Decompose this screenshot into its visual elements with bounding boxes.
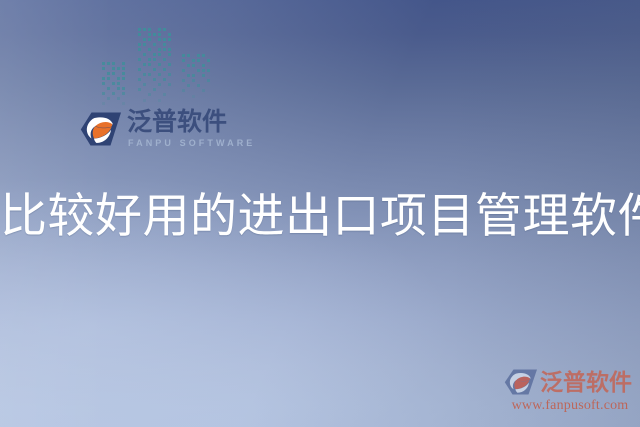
fanpu-logo-name-cn: 泛普软件 — [127, 108, 255, 136]
fanpu-logo-name-en: FANPU SOFTWARE — [128, 137, 255, 150]
watermark-url: www.fanpusoft.com — [504, 397, 636, 414]
pixel-skyline-icon — [98, 24, 216, 108]
fanpu-watermark-mark-icon — [504, 368, 538, 396]
watermark-name-cn: 泛普软件 — [540, 369, 632, 395]
fanpu-logo-mark-icon — [80, 111, 122, 147]
banner-headline: 比较好用的进出口项目管理软件 — [0, 188, 640, 246]
promo-banner: 泛普软件 FANPU SOFTWARE 比较好用的进出口项目管理软件 泛普软件 … — [0, 0, 640, 427]
site-watermark: 泛普软件 www.fanpusoft.com — [504, 368, 636, 418]
fanpu-logo: 泛普软件 FANPU SOFTWARE — [80, 108, 255, 150]
fanpu-logo-wordmark: 泛普软件 FANPU SOFTWARE — [127, 108, 255, 150]
watermark-logo-row: 泛普软件 — [504, 368, 636, 396]
